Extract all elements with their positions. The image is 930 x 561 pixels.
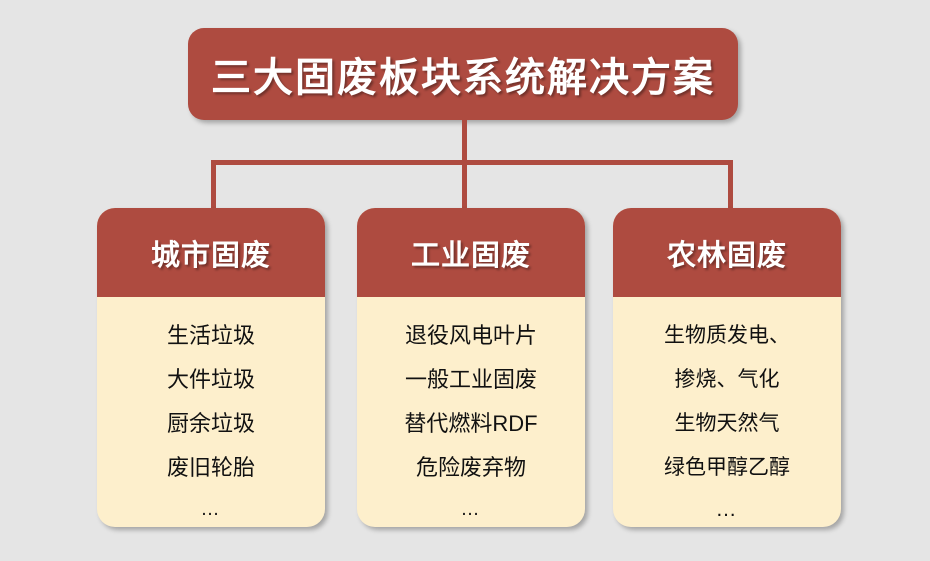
diagram-title-node: 三大固废板块系统解决方案 bbox=[188, 28, 738, 120]
list-item: 废旧轮胎 bbox=[167, 446, 255, 490]
branch-card-urban: 城市固废 生活垃圾 大件垃圾 厨余垃圾 废旧轮胎 … bbox=[97, 208, 325, 527]
branch-header-agroforestry: 农林固废 bbox=[613, 208, 841, 297]
list-item: 替代燃料RDF bbox=[404, 402, 537, 446]
list-item: 一般工业固废 bbox=[405, 358, 537, 402]
list-item: 生活垃圾 bbox=[167, 314, 255, 358]
connector-drop-right bbox=[728, 160, 733, 210]
branch-header-label: 城市固废 bbox=[151, 232, 271, 274]
list-item: 绿色甲醇乙醇 bbox=[664, 446, 790, 490]
branch-card-agroforestry: 农林固废 生物质发电、 掺烧、气化 生物天然气 绿色甲醇乙醇 … bbox=[613, 208, 841, 527]
list-item: 危险废弃物 bbox=[416, 446, 526, 490]
connector-stem bbox=[462, 120, 467, 165]
branch-card-industrial: 工业固废 退役风电叶片 一般工业固废 替代燃料RDF 危险废弃物 … bbox=[357, 208, 585, 527]
branch-body-industrial: 退役风电叶片 一般工业固废 替代燃料RDF 危险废弃物 … bbox=[357, 297, 585, 527]
list-item: 大件垃圾 bbox=[167, 358, 255, 402]
branch-header-urban: 城市固废 bbox=[97, 208, 325, 297]
list-item-ellipsis: … bbox=[461, 490, 482, 527]
branch-header-label: 农林固废 bbox=[667, 232, 787, 274]
connector-drop-middle bbox=[462, 160, 467, 210]
diagram-title-text: 三大固废板块系统解决方案 bbox=[211, 45, 715, 103]
list-item: 生物质发电、 bbox=[664, 314, 790, 358]
branch-body-urban: 生活垃圾 大件垃圾 厨余垃圾 废旧轮胎 … bbox=[97, 297, 325, 527]
connector-horizontal-bar bbox=[211, 160, 733, 165]
branch-header-label: 工业固废 bbox=[411, 232, 531, 274]
branch-header-industrial: 工业固废 bbox=[357, 208, 585, 297]
list-item: 生物天然气 bbox=[675, 402, 780, 446]
list-item: 厨余垃圾 bbox=[167, 402, 255, 446]
branch-body-agroforestry: 生物质发电、 掺烧、气化 生物天然气 绿色甲醇乙醇 … bbox=[613, 297, 841, 527]
connector-drop-left bbox=[211, 160, 216, 210]
list-item: 退役风电叶片 bbox=[405, 314, 537, 358]
list-item-ellipsis: … bbox=[201, 490, 222, 527]
org-chart-diagram: 三大固废板块系统解决方案 城市固废 生活垃圾 大件垃圾 厨余垃圾 废旧轮胎 … … bbox=[0, 0, 930, 561]
list-item-ellipsis: … bbox=[716, 490, 739, 527]
list-item: 掺烧、气化 bbox=[675, 358, 780, 402]
